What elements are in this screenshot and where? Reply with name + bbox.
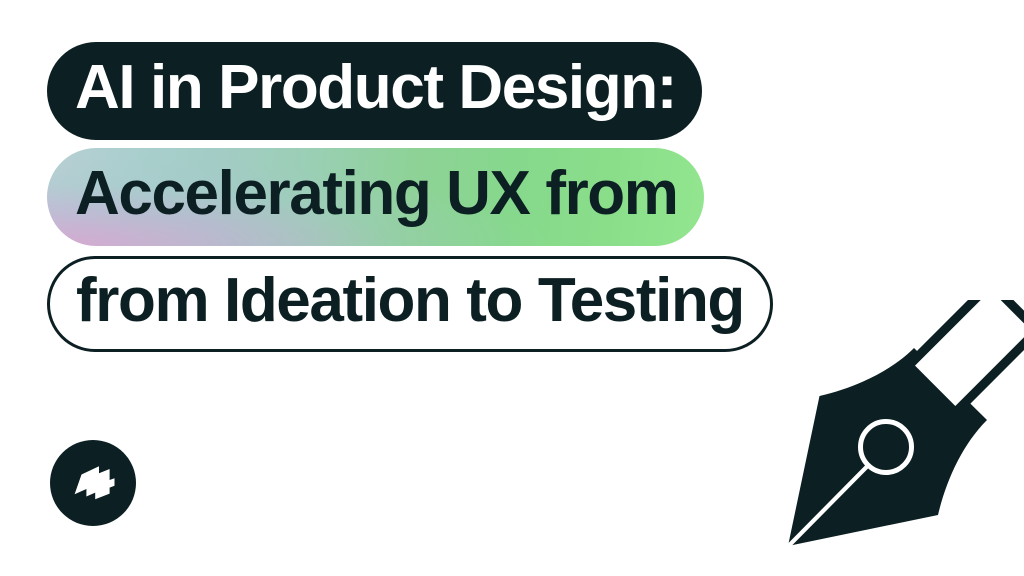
title-line-2-text: Accelerating UX from: [75, 163, 678, 225]
title-stack: AI in Product Design: Accelerating UX fr…: [47, 42, 1024, 352]
zigzag-mark-icon: [68, 460, 118, 506]
title-line-1-pill: AI in Product Design:: [47, 42, 702, 140]
nib-vent-hole: [861, 422, 912, 473]
title-line-2-pill: Accelerating UX from: [47, 148, 704, 246]
title-line-3-pill: from Ideation to Testing: [47, 256, 773, 352]
title-line-1-text: AI in Product Design:: [75, 57, 676, 119]
title-line-3-text: from Ideation to Testing: [76, 270, 744, 332]
poster-canvas: AI in Product Design: Accelerating UX fr…: [0, 0, 1024, 576]
brand-logo-badge[interactable]: [50, 440, 136, 526]
